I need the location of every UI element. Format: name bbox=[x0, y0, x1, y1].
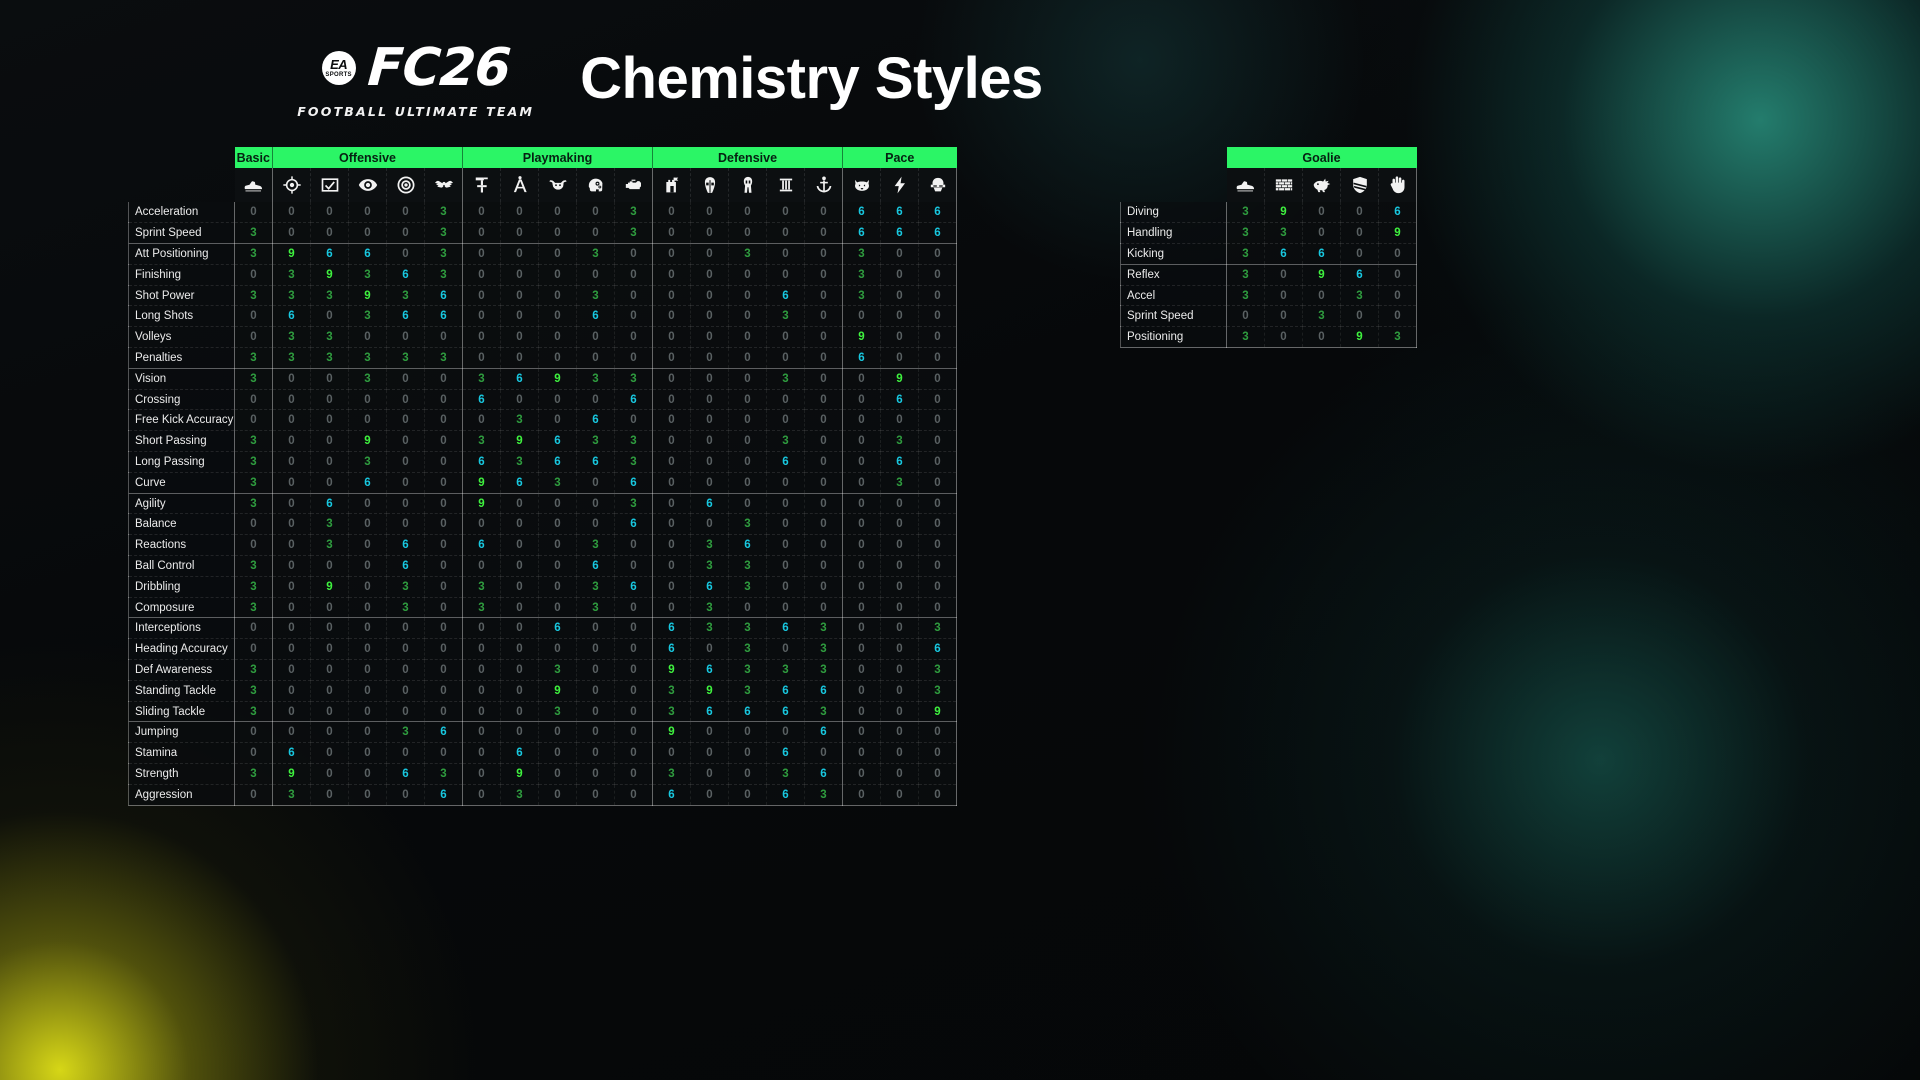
stat-value-cell: 3 bbox=[387, 348, 425, 369]
row-label-vision: Vision bbox=[129, 368, 235, 389]
stat-value-cell: 0 bbox=[691, 285, 729, 306]
eye-icon[interactable] bbox=[349, 168, 387, 202]
goalie-row-label-handling: Handling bbox=[1121, 223, 1227, 244]
stat-value-cell: 6 bbox=[729, 535, 767, 556]
goalie-glove-icon[interactable] bbox=[1379, 168, 1417, 202]
stat-value-cell: 0 bbox=[577, 493, 615, 514]
stat-value-cell: 0 bbox=[463, 327, 501, 348]
group-header-basic[interactable]: Basic bbox=[235, 147, 273, 168]
stat-value-cell: 0 bbox=[805, 556, 843, 577]
stat-value-cell: 3 bbox=[539, 701, 577, 722]
stat-value-cell: 0 bbox=[843, 784, 881, 805]
stat-value-cell: 3 bbox=[805, 660, 843, 681]
stat-value-cell: 0 bbox=[805, 535, 843, 556]
stat-value-cell: 0 bbox=[691, 722, 729, 743]
group-header-playmaking[interactable]: Playmaking bbox=[463, 147, 653, 168]
stat-value-cell: 3 bbox=[881, 431, 919, 452]
goalie-stat-value-cell: 0 bbox=[1303, 202, 1341, 223]
stat-value-cell: 0 bbox=[349, 223, 387, 244]
stat-value-cell: 0 bbox=[691, 327, 729, 348]
stat-value-cell: 0 bbox=[881, 784, 919, 805]
stat-value-cell: 0 bbox=[501, 660, 539, 681]
stat-value-cell: 0 bbox=[539, 327, 577, 348]
goalie-panther-icon[interactable] bbox=[1303, 168, 1341, 202]
stat-value-cell: 0 bbox=[729, 285, 767, 306]
stat-value-cell: 0 bbox=[577, 223, 615, 244]
stat-value-cell: 6 bbox=[881, 452, 919, 473]
stat-value-cell: 0 bbox=[843, 680, 881, 701]
stat-value-cell: 3 bbox=[235, 660, 273, 681]
stat-value-cell: 6 bbox=[311, 244, 349, 265]
stat-value-cell: 3 bbox=[463, 368, 501, 389]
column-icon[interactable] bbox=[767, 168, 805, 202]
goalie-icon-header-row bbox=[1121, 168, 1417, 202]
stat-value-cell: 0 bbox=[501, 244, 539, 265]
lightning-icon[interactable] bbox=[881, 168, 919, 202]
table-row: Kicking36600 bbox=[1121, 244, 1417, 265]
stat-value-cell: 3 bbox=[425, 223, 463, 244]
row-label-stamina: Stamina bbox=[129, 743, 235, 764]
target-icon[interactable] bbox=[387, 168, 425, 202]
stat-value-cell: 0 bbox=[235, 514, 273, 535]
stat-value-cell: 0 bbox=[463, 784, 501, 805]
stat-value-cell: 0 bbox=[881, 244, 919, 265]
stat-value-cell: 0 bbox=[881, 410, 919, 431]
castle-icon[interactable] bbox=[653, 168, 691, 202]
stat-value-cell: 6 bbox=[767, 285, 805, 306]
row-label-long-shots: Long Shots bbox=[129, 306, 235, 327]
logo-row: EA SPORTS FC26 bbox=[322, 38, 510, 98]
row-label-finishing: Finishing bbox=[129, 264, 235, 285]
goalie-stat-value-cell: 6 bbox=[1265, 244, 1303, 265]
stat-value-cell: 0 bbox=[615, 285, 653, 306]
ninja-icon[interactable] bbox=[919, 168, 957, 202]
stat-value-cell: 0 bbox=[311, 306, 349, 327]
stat-value-cell: 0 bbox=[691, 639, 729, 660]
goalie-stat-value-cell: 0 bbox=[1227, 306, 1265, 327]
stat-value-cell: 3 bbox=[425, 348, 463, 369]
stat-value-cell: 3 bbox=[843, 264, 881, 285]
stat-value-cell: 3 bbox=[615, 223, 653, 244]
bull-icon[interactable] bbox=[539, 168, 577, 202]
group-header-defensive[interactable]: Defensive bbox=[653, 147, 843, 168]
stat-value-cell: 6 bbox=[767, 452, 805, 473]
stat-value-cell: 0 bbox=[501, 680, 539, 701]
stat-value-cell: 0 bbox=[615, 264, 653, 285]
goalie-row-label-kicking: Kicking bbox=[1121, 244, 1227, 265]
stat-value-cell: 3 bbox=[577, 368, 615, 389]
stat-value-cell: 0 bbox=[349, 202, 387, 223]
stat-value-cell: 0 bbox=[463, 764, 501, 785]
table-row: Stamina0600000600000060000 bbox=[129, 743, 957, 764]
stat-value-cell: 0 bbox=[653, 389, 691, 410]
stat-value-cell: 3 bbox=[463, 576, 501, 597]
stat-value-cell: 0 bbox=[843, 493, 881, 514]
stat-value-cell: 0 bbox=[615, 722, 653, 743]
stat-value-cell: 0 bbox=[919, 514, 957, 535]
stat-value-cell: 0 bbox=[653, 743, 691, 764]
table-row: Long Shots0603660006000030000 bbox=[129, 306, 957, 327]
stat-value-cell: 0 bbox=[615, 784, 653, 805]
stat-value-cell: 3 bbox=[729, 514, 767, 535]
stat-value-cell: 0 bbox=[387, 202, 425, 223]
stat-value-cell: 3 bbox=[805, 639, 843, 660]
row-label-def-awareness: Def Awareness bbox=[129, 660, 235, 681]
goalie-stat-value-cell: 9 bbox=[1341, 327, 1379, 348]
goalie-stat-value-cell: 0 bbox=[1265, 327, 1303, 348]
stat-value-cell: 0 bbox=[691, 264, 729, 285]
table-row: Jumping0000360000090006000 bbox=[129, 722, 957, 743]
stat-value-cell: 0 bbox=[653, 535, 691, 556]
stat-value-cell: 0 bbox=[653, 410, 691, 431]
stat-value-cell: 0 bbox=[349, 639, 387, 660]
goalie-row-label-sprint-speed: Sprint Speed bbox=[1121, 306, 1227, 327]
stat-value-cell: 0 bbox=[653, 244, 691, 265]
stat-value-cell: 0 bbox=[919, 576, 957, 597]
main-table-body: Acceleration0000030000300000666Sprint Sp… bbox=[129, 202, 957, 805]
helmet-icon[interactable] bbox=[691, 168, 729, 202]
row-label-free-kick-accuracy: Free Kick Accuracy bbox=[129, 410, 235, 431]
stat-value-cell: 3 bbox=[425, 264, 463, 285]
stat-value-cell: 6 bbox=[577, 556, 615, 577]
stat-value-cell: 0 bbox=[311, 223, 349, 244]
stat-value-cell: 0 bbox=[311, 410, 349, 431]
stat-value-cell: 0 bbox=[273, 576, 311, 597]
stat-value-cell: 0 bbox=[615, 306, 653, 327]
stat-value-cell: 0 bbox=[577, 743, 615, 764]
stat-value-cell: 0 bbox=[881, 493, 919, 514]
stat-value-cell: 0 bbox=[387, 389, 425, 410]
stat-value-cell: 0 bbox=[463, 285, 501, 306]
stat-value-cell: 0 bbox=[539, 410, 577, 431]
stat-value-cell: 0 bbox=[577, 264, 615, 285]
stat-value-cell: 6 bbox=[349, 244, 387, 265]
stat-value-cell: 6 bbox=[881, 223, 919, 244]
stat-value-cell: 0 bbox=[691, 389, 729, 410]
stat-value-cell: 0 bbox=[425, 618, 463, 639]
stat-value-cell: 0 bbox=[653, 431, 691, 452]
goalie-row-label-positioning: Positioning bbox=[1121, 327, 1227, 348]
stat-value-cell: 0 bbox=[843, 389, 881, 410]
stat-value-cell: 3 bbox=[691, 535, 729, 556]
goalie-shield-icon[interactable] bbox=[1341, 168, 1379, 202]
goalie-row-label-reflex: Reflex bbox=[1121, 264, 1227, 285]
stat-value-cell: 0 bbox=[539, 535, 577, 556]
stat-value-cell: 0 bbox=[767, 722, 805, 743]
stat-value-cell: 3 bbox=[235, 472, 273, 493]
stat-value-cell: 6 bbox=[767, 743, 805, 764]
stat-value-cell: 0 bbox=[463, 348, 501, 369]
stat-value-cell: 0 bbox=[691, 472, 729, 493]
stat-value-cell: 0 bbox=[729, 452, 767, 473]
stat-value-cell: 3 bbox=[767, 368, 805, 389]
stat-value-cell: 0 bbox=[273, 410, 311, 431]
stat-value-cell: 0 bbox=[691, 764, 729, 785]
stat-value-cell: 0 bbox=[539, 576, 577, 597]
goalie-stat-value-cell: 3 bbox=[1303, 306, 1341, 327]
stat-value-cell: 0 bbox=[425, 639, 463, 660]
brush-icon[interactable] bbox=[463, 168, 501, 202]
stat-value-cell: 3 bbox=[273, 348, 311, 369]
row-label-shot-power: Shot Power bbox=[129, 285, 235, 306]
stat-value-cell: 0 bbox=[615, 244, 653, 265]
stat-value-cell: 0 bbox=[843, 535, 881, 556]
stat-value-cell: 0 bbox=[843, 431, 881, 452]
stat-value-cell: 0 bbox=[767, 202, 805, 223]
stat-value-cell: 6 bbox=[919, 202, 957, 223]
stat-value-cell: 0 bbox=[919, 264, 957, 285]
table-row: Aggression0300060300060063000 bbox=[129, 784, 957, 805]
stat-value-cell: 3 bbox=[615, 452, 653, 473]
stat-value-cell: 3 bbox=[273, 784, 311, 805]
stat-value-cell: 0 bbox=[425, 514, 463, 535]
stat-value-cell: 0 bbox=[463, 618, 501, 639]
goalie-wall-icon[interactable] bbox=[1265, 168, 1303, 202]
stat-value-cell: 0 bbox=[881, 535, 919, 556]
stat-value-cell: 0 bbox=[805, 452, 843, 473]
stat-value-cell: 6 bbox=[843, 202, 881, 223]
goalie-group-header-row: Goalie bbox=[1121, 147, 1417, 168]
stat-value-cell: 0 bbox=[767, 535, 805, 556]
stat-value-cell: 0 bbox=[273, 701, 311, 722]
goalie-stat-value-cell: 3 bbox=[1227, 244, 1265, 265]
stat-value-cell: 0 bbox=[653, 556, 691, 577]
stat-value-cell: 0 bbox=[539, 348, 577, 369]
stat-value-cell: 6 bbox=[805, 764, 843, 785]
stat-value-cell: 0 bbox=[311, 618, 349, 639]
main-label-corner bbox=[129, 147, 235, 168]
gladiator-icon[interactable] bbox=[729, 168, 767, 202]
stat-value-cell: 0 bbox=[577, 639, 615, 660]
stat-value-cell: 0 bbox=[425, 680, 463, 701]
stat-value-cell: 0 bbox=[273, 722, 311, 743]
table-row: Agility3060009000306000000 bbox=[129, 493, 957, 514]
stat-value-cell: 0 bbox=[805, 493, 843, 514]
row-label-interceptions: Interceptions bbox=[129, 618, 235, 639]
cheetah-icon[interactable] bbox=[843, 168, 881, 202]
stat-value-cell: 3 bbox=[805, 701, 843, 722]
stat-value-cell: 6 bbox=[653, 639, 691, 660]
stat-value-cell: 0 bbox=[425, 597, 463, 618]
stat-value-cell: 0 bbox=[691, 244, 729, 265]
stat-value-cell: 0 bbox=[615, 618, 653, 639]
stat-value-cell: 0 bbox=[349, 722, 387, 743]
group-header-goalie[interactable]: Goalie bbox=[1227, 147, 1417, 168]
stat-value-cell: 3 bbox=[653, 701, 691, 722]
stat-value-cell: 0 bbox=[615, 327, 653, 348]
goalie-stat-value-cell: 9 bbox=[1303, 264, 1341, 285]
stat-value-cell: 9 bbox=[273, 764, 311, 785]
crosshair-icon[interactable] bbox=[273, 168, 311, 202]
anchor-icon[interactable] bbox=[805, 168, 843, 202]
stat-value-cell: 0 bbox=[311, 743, 349, 764]
stat-value-cell: 0 bbox=[501, 639, 539, 660]
stat-value-cell: 3 bbox=[235, 285, 273, 306]
stat-value-cell: 6 bbox=[387, 264, 425, 285]
stat-value-cell: 6 bbox=[615, 514, 653, 535]
stat-value-cell: 6 bbox=[805, 680, 843, 701]
stat-value-cell: 3 bbox=[767, 306, 805, 327]
stat-value-cell: 6 bbox=[539, 431, 577, 452]
stat-value-cell: 0 bbox=[387, 660, 425, 681]
stat-value-cell: 0 bbox=[425, 660, 463, 681]
stat-value-cell: 0 bbox=[729, 264, 767, 285]
stat-value-cell: 0 bbox=[919, 535, 957, 556]
stat-value-cell: 6 bbox=[767, 701, 805, 722]
wings-icon[interactable] bbox=[425, 168, 463, 202]
stat-value-cell: 6 bbox=[501, 472, 539, 493]
stat-value-cell: 3 bbox=[235, 493, 273, 514]
row-label-penalties: Penalties bbox=[129, 348, 235, 369]
stat-value-cell: 0 bbox=[539, 784, 577, 805]
checkbox-icon[interactable] bbox=[311, 168, 349, 202]
stat-value-cell: 0 bbox=[539, 306, 577, 327]
stat-value-cell: 0 bbox=[387, 410, 425, 431]
goalie-row-label-accel: Accel bbox=[1121, 285, 1227, 306]
stat-value-cell: 6 bbox=[501, 743, 539, 764]
stat-value-cell: 3 bbox=[235, 452, 273, 473]
stat-value-cell: 6 bbox=[843, 348, 881, 369]
table-row: Accel30030 bbox=[1121, 285, 1417, 306]
stat-value-cell: 0 bbox=[729, 431, 767, 452]
stat-value-cell: 0 bbox=[349, 764, 387, 785]
group-header-offensive[interactable]: Offensive bbox=[273, 147, 463, 168]
stat-value-cell: 3 bbox=[729, 660, 767, 681]
stat-value-cell: 6 bbox=[805, 722, 843, 743]
goalie-boot-icon[interactable] bbox=[1227, 168, 1265, 202]
stat-value-cell: 0 bbox=[881, 701, 919, 722]
stat-value-cell: 0 bbox=[387, 701, 425, 722]
stat-value-cell: 6 bbox=[425, 722, 463, 743]
stat-value-cell: 0 bbox=[805, 389, 843, 410]
stat-value-cell: 0 bbox=[805, 514, 843, 535]
stat-value-cell: 0 bbox=[311, 431, 349, 452]
stat-value-cell: 0 bbox=[235, 722, 273, 743]
stat-value-cell: 0 bbox=[425, 472, 463, 493]
stat-value-cell: 0 bbox=[425, 368, 463, 389]
stat-value-cell: 0 bbox=[919, 327, 957, 348]
stat-value-cell: 0 bbox=[387, 223, 425, 244]
stat-value-cell: 0 bbox=[539, 244, 577, 265]
stat-value-cell: 0 bbox=[501, 306, 539, 327]
stat-value-cell: 0 bbox=[729, 784, 767, 805]
group-header-pace[interactable]: Pace bbox=[843, 147, 957, 168]
stat-value-cell: 0 bbox=[273, 202, 311, 223]
stat-value-cell: 0 bbox=[235, 410, 273, 431]
stat-value-cell: 6 bbox=[691, 660, 729, 681]
stat-value-cell: 0 bbox=[843, 410, 881, 431]
stat-value-cell: 0 bbox=[273, 493, 311, 514]
stat-value-cell: 0 bbox=[729, 743, 767, 764]
stat-value-cell: 0 bbox=[235, 743, 273, 764]
stat-value-cell: 0 bbox=[843, 306, 881, 327]
stat-value-cell: 0 bbox=[425, 535, 463, 556]
goalie-stat-value-cell: 0 bbox=[1341, 223, 1379, 244]
stat-value-cell: 0 bbox=[729, 368, 767, 389]
goalie-stat-value-cell: 3 bbox=[1227, 202, 1265, 223]
stat-value-cell: 3 bbox=[235, 244, 273, 265]
stat-value-cell: 0 bbox=[881, 306, 919, 327]
stat-value-cell: 0 bbox=[539, 556, 577, 577]
stat-value-cell: 0 bbox=[919, 493, 957, 514]
boot-icon[interactable] bbox=[235, 168, 273, 202]
stat-value-cell: 3 bbox=[653, 764, 691, 785]
stat-value-cell: 0 bbox=[349, 556, 387, 577]
compass-icon[interactable] bbox=[501, 168, 539, 202]
stat-value-cell: 0 bbox=[653, 327, 691, 348]
stat-value-cell: 0 bbox=[311, 597, 349, 618]
stat-value-cell: 0 bbox=[311, 452, 349, 473]
stat-value-cell: 0 bbox=[501, 493, 539, 514]
stat-value-cell: 0 bbox=[349, 389, 387, 410]
stat-value-cell: 0 bbox=[767, 514, 805, 535]
stat-value-cell: 0 bbox=[691, 514, 729, 535]
row-label-heading-accuracy: Heading Accuracy bbox=[129, 639, 235, 660]
stat-value-cell: 0 bbox=[767, 264, 805, 285]
stat-value-cell: 0 bbox=[463, 743, 501, 764]
stat-value-cell: 0 bbox=[235, 639, 273, 660]
goalie-table-head: Goalie bbox=[1121, 147, 1417, 202]
table-row: Reactions0030606003003600000 bbox=[129, 535, 957, 556]
stat-value-cell: 3 bbox=[235, 223, 273, 244]
stat-value-cell: 3 bbox=[387, 722, 425, 743]
stat-value-cell: 0 bbox=[881, 576, 919, 597]
stat-value-cell: 0 bbox=[311, 764, 349, 785]
stat-value-cell: 6 bbox=[349, 472, 387, 493]
stat-value-cell: 9 bbox=[463, 472, 501, 493]
stat-value-cell: 0 bbox=[273, 535, 311, 556]
stat-value-cell: 0 bbox=[653, 493, 691, 514]
stat-value-cell: 0 bbox=[767, 556, 805, 577]
stat-value-cell: 3 bbox=[843, 285, 881, 306]
stat-value-cell: 3 bbox=[501, 452, 539, 473]
stat-value-cell: 0 bbox=[235, 202, 273, 223]
stat-value-cell: 0 bbox=[653, 348, 691, 369]
stat-value-cell: 0 bbox=[805, 202, 843, 223]
stat-value-cell: 6 bbox=[691, 493, 729, 514]
stat-value-cell: 3 bbox=[235, 348, 273, 369]
stat-value-cell: 9 bbox=[501, 764, 539, 785]
stat-value-cell: 6 bbox=[691, 576, 729, 597]
stat-value-cell: 0 bbox=[425, 701, 463, 722]
stat-value-cell: 0 bbox=[615, 660, 653, 681]
main-table-head: BasicOffensivePlaymakingDefensivePace bbox=[129, 147, 957, 202]
stat-value-cell: 0 bbox=[387, 472, 425, 493]
stat-value-cell: 9 bbox=[881, 368, 919, 389]
stat-value-cell: 0 bbox=[235, 618, 273, 639]
stat-value-cell: 3 bbox=[767, 764, 805, 785]
stat-value-cell: 0 bbox=[273, 368, 311, 389]
stat-value-cell: 0 bbox=[387, 618, 425, 639]
goalie-stat-value-cell: 9 bbox=[1265, 202, 1303, 223]
stat-value-cell: 6 bbox=[387, 556, 425, 577]
brain-gears-icon[interactable] bbox=[577, 168, 615, 202]
stat-value-cell: 0 bbox=[235, 264, 273, 285]
stat-value-cell: 0 bbox=[273, 431, 311, 452]
engine-icon[interactable] bbox=[615, 168, 653, 202]
table-row: Diving39006 bbox=[1121, 202, 1417, 223]
stat-value-cell: 3 bbox=[805, 618, 843, 639]
stat-value-cell: 0 bbox=[539, 514, 577, 535]
goalie-row-label-diving: Diving bbox=[1121, 202, 1227, 223]
stat-value-cell: 0 bbox=[235, 389, 273, 410]
stat-value-cell: 9 bbox=[311, 576, 349, 597]
stat-value-cell: 0 bbox=[387, 743, 425, 764]
table-row: Finishing0393630000000000300 bbox=[129, 264, 957, 285]
stat-value-cell: 6 bbox=[311, 493, 349, 514]
goalie-table-element: Goalie Diving39006Handling33009Kicking36… bbox=[1120, 147, 1417, 348]
stat-value-cell: 6 bbox=[653, 618, 691, 639]
